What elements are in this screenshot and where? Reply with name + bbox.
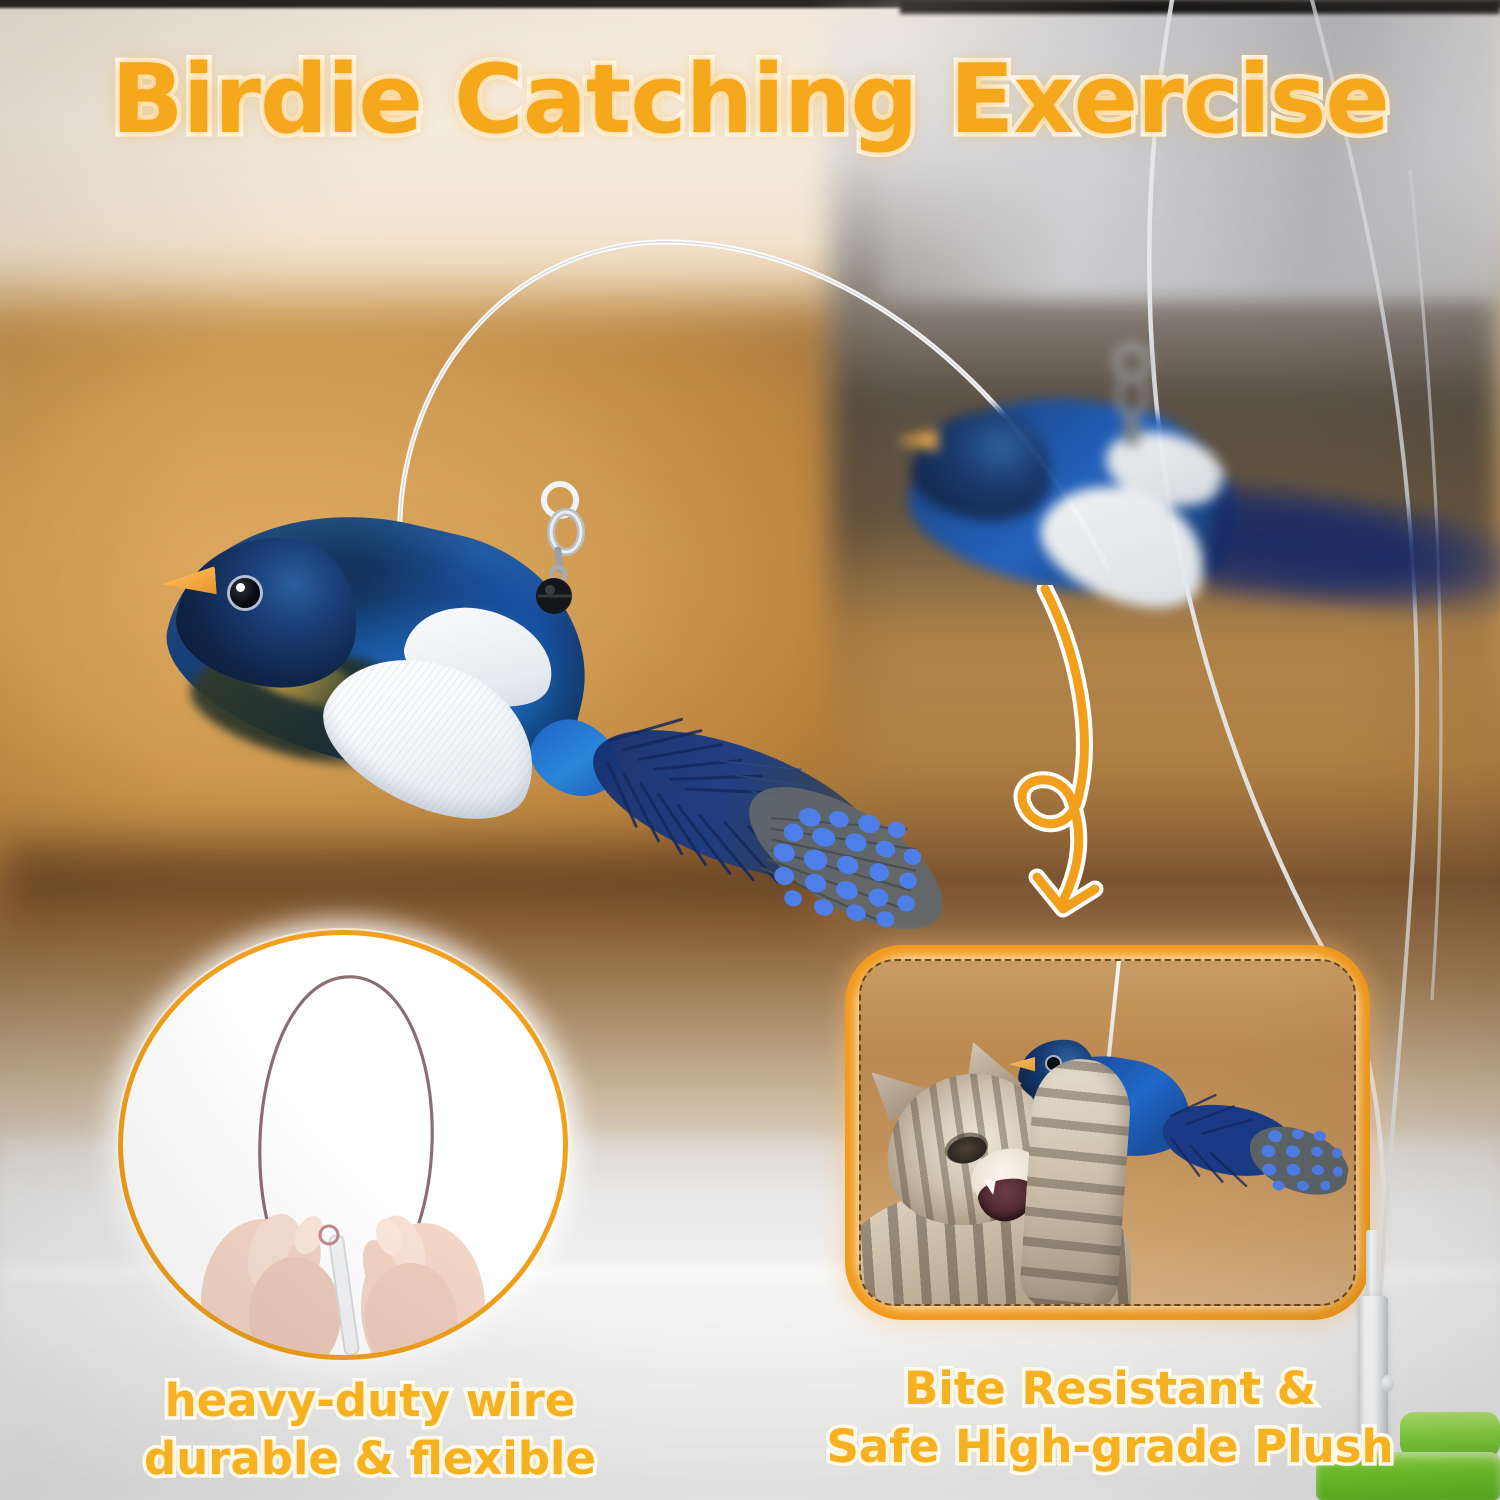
caption-right-line1: Bite Resistant & [790, 1360, 1430, 1418]
image-vignette [0, 0, 1500, 1500]
caption-left-line2: durable & flexible [60, 1430, 680, 1488]
caption-right: Bite Resistant & Safe High-grade Plush [790, 1360, 1430, 1475]
product-marketing-image: Birdie Catching Exercise heavy-duty wire… [0, 0, 1500, 1500]
caption-left-line1: heavy-duty wire [60, 1372, 680, 1430]
caption-left: heavy-duty wire durable & flexible [60, 1372, 680, 1487]
caption-right-line2: Safe High-grade Plush [790, 1418, 1430, 1476]
page-title: Birdie Catching Exercise [0, 52, 1500, 149]
